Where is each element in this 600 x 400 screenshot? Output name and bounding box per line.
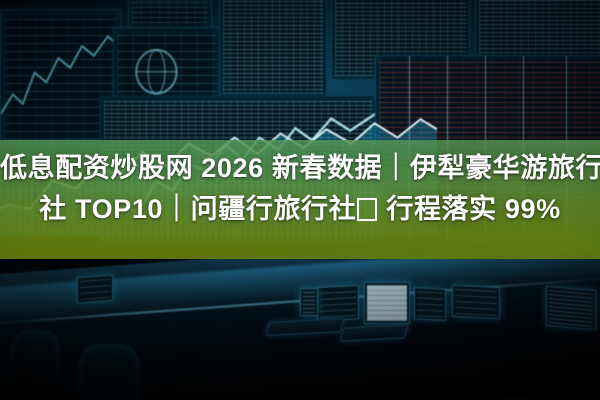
desk-monitor-center-white — [364, 282, 410, 324]
desk-monitor-right-a — [452, 285, 500, 320]
desk-monitor-center-right — [414, 287, 446, 321]
screenshot-canvas: 低息配资炒股网 2026 新春数据｜伊犁豪华游旅行 社 TOP10｜问疆行旅行社… — [0, 0, 600, 400]
chair-left-2 — [78, 344, 140, 400]
caption-line-2-part-1: 社 TOP10｜问疆行旅行社 — [39, 194, 356, 224]
caption-block: 低息配资炒股网 2026 新春数据｜伊犁豪华游旅行 社 TOP10｜问疆行旅行社… — [0, 148, 600, 230]
caption-line-2: 社 TOP10｜问疆行旅行社 行程落实 99% — [0, 189, 600, 230]
caption-line-1: 低息配资炒股网 2026 新春数据｜伊犁豪华游旅行 — [0, 148, 600, 189]
wall-screen-table-right — [219, 0, 327, 98]
caption-line-2-part-2: 行程落实 99% — [386, 194, 560, 224]
screen-data-rows — [223, 0, 323, 94]
desk-monitor-left-teal — [77, 275, 113, 304]
missing-glyph-box — [357, 198, 377, 221]
desk-monitor-right-b — [546, 286, 596, 330]
desk-monitor-far-left — [300, 288, 318, 316]
chair-left — [10, 330, 60, 382]
desk-monitor-center-teal — [317, 285, 359, 321]
